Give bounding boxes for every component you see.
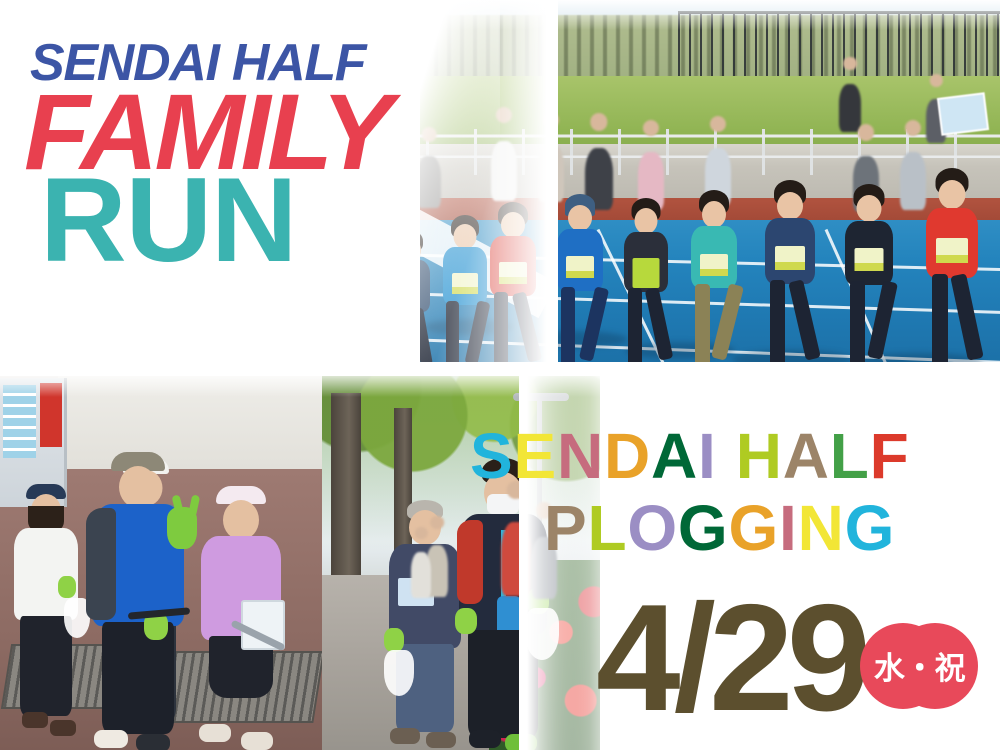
shoe (505, 734, 537, 750)
participant-girl (193, 482, 289, 750)
rainbow-letter-e-1: E (513, 424, 556, 488)
poster-banner: SENDAI HALF FAMILY RUN SENDAIHALF PLOGGI… (0, 0, 1000, 750)
rainbow-letter-a-8: A (783, 424, 830, 488)
rainbow-letter-s-0: S (470, 424, 513, 488)
vending-machine-brand-band (40, 383, 62, 448)
plogging-line-sendai-half: SENDAIHALF (470, 424, 1000, 488)
shoe (426, 732, 456, 748)
participant-adult-woman (6, 480, 86, 750)
shoe (241, 732, 273, 750)
rainbow-letter-f-10: F (870, 424, 910, 488)
family-run-lockup: SENDAI HALF FAMILY RUN (22, 40, 442, 276)
course-sign (936, 92, 988, 136)
day-badge-label: 水・祝 (860, 623, 978, 709)
shoe (469, 730, 501, 748)
rainbow-letter-g-4: G (728, 496, 779, 560)
plogging-lockup: SENDAIHALF PLOGGING (470, 424, 1000, 560)
green-glove (455, 608, 477, 634)
runner (618, 198, 674, 380)
green-glove (384, 628, 404, 652)
rainbow-letter-l-9: L (830, 424, 870, 488)
date-value: 4/29 (596, 596, 864, 721)
shoe (94, 730, 128, 748)
rainbow-letter-i-5: I (698, 424, 717, 488)
day-of-week-badge: 水・祝 (860, 623, 978, 709)
photo-plogging-family (0, 370, 322, 750)
vending-machine-display (3, 385, 36, 457)
rainbow-letter-g-3: G (678, 496, 729, 560)
spectator-walking (839, 84, 861, 132)
rainbow-letter-p-0: P (544, 496, 587, 560)
event-date: 4/29 水・祝 (596, 596, 978, 721)
shoe (50, 720, 76, 736)
shoe (22, 712, 48, 728)
participant-background (411, 552, 431, 598)
plogging-line-plogging: PLOGGING (544, 496, 1000, 560)
runner (551, 194, 609, 380)
runner (685, 190, 743, 380)
rainbow-letter-i-5: I (779, 496, 798, 560)
rainbow-letter-n-6: N (798, 496, 845, 560)
rainbow-letter-g-7: G (845, 496, 896, 560)
rainbow-letter-d-3: D (604, 424, 651, 488)
green-glove (58, 576, 76, 598)
rainbow-letter-l-1: L (587, 496, 627, 560)
litter-bag (384, 650, 414, 696)
shoe (199, 724, 231, 742)
backpack (86, 508, 116, 620)
runner (920, 168, 984, 380)
shoe (390, 728, 420, 744)
runner (839, 184, 899, 380)
participant-boy (84, 434, 192, 750)
rainbow-letter-a-4: A (651, 424, 698, 488)
shoe (136, 734, 170, 750)
rainbow-letter-o-2: O (627, 496, 678, 560)
rainbow-letter-h-7: H (736, 424, 783, 488)
rainbow-letter-n-2: N (557, 424, 604, 488)
runner (759, 180, 821, 380)
white-divider-band (0, 362, 1000, 376)
